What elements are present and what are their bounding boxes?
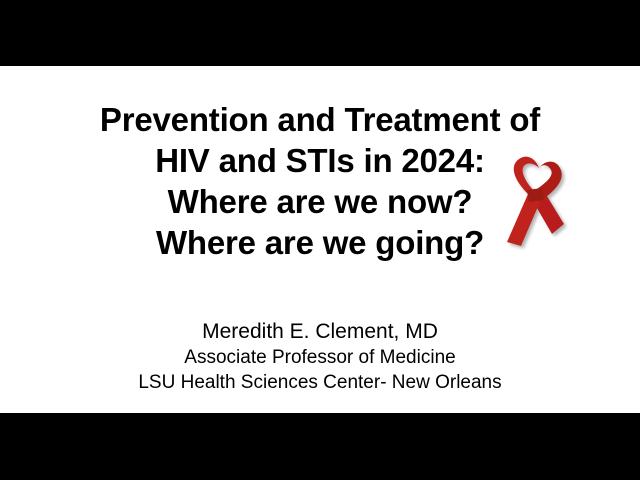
presenter-info: Meredith E. Clement, MD Associate Profes… — [0, 318, 640, 395]
red-awareness-ribbon-icon — [494, 150, 576, 262]
presenter-affiliation: LSU Health Sciences Center- New Orleans — [0, 370, 640, 395]
letterbox-bar-top — [0, 0, 640, 66]
video-frame: Prevention and Treatment of HIV and STIs… — [0, 0, 640, 480]
title-line-1: Prevention and Treatment of — [0, 99, 640, 140]
presentation-slide: Prevention and Treatment of HIV and STIs… — [0, 66, 640, 413]
letterbox-bar-bottom — [0, 413, 640, 480]
presenter-title: Associate Professor of Medicine — [0, 345, 640, 370]
presenter-name: Meredith E. Clement, MD — [0, 318, 640, 345]
